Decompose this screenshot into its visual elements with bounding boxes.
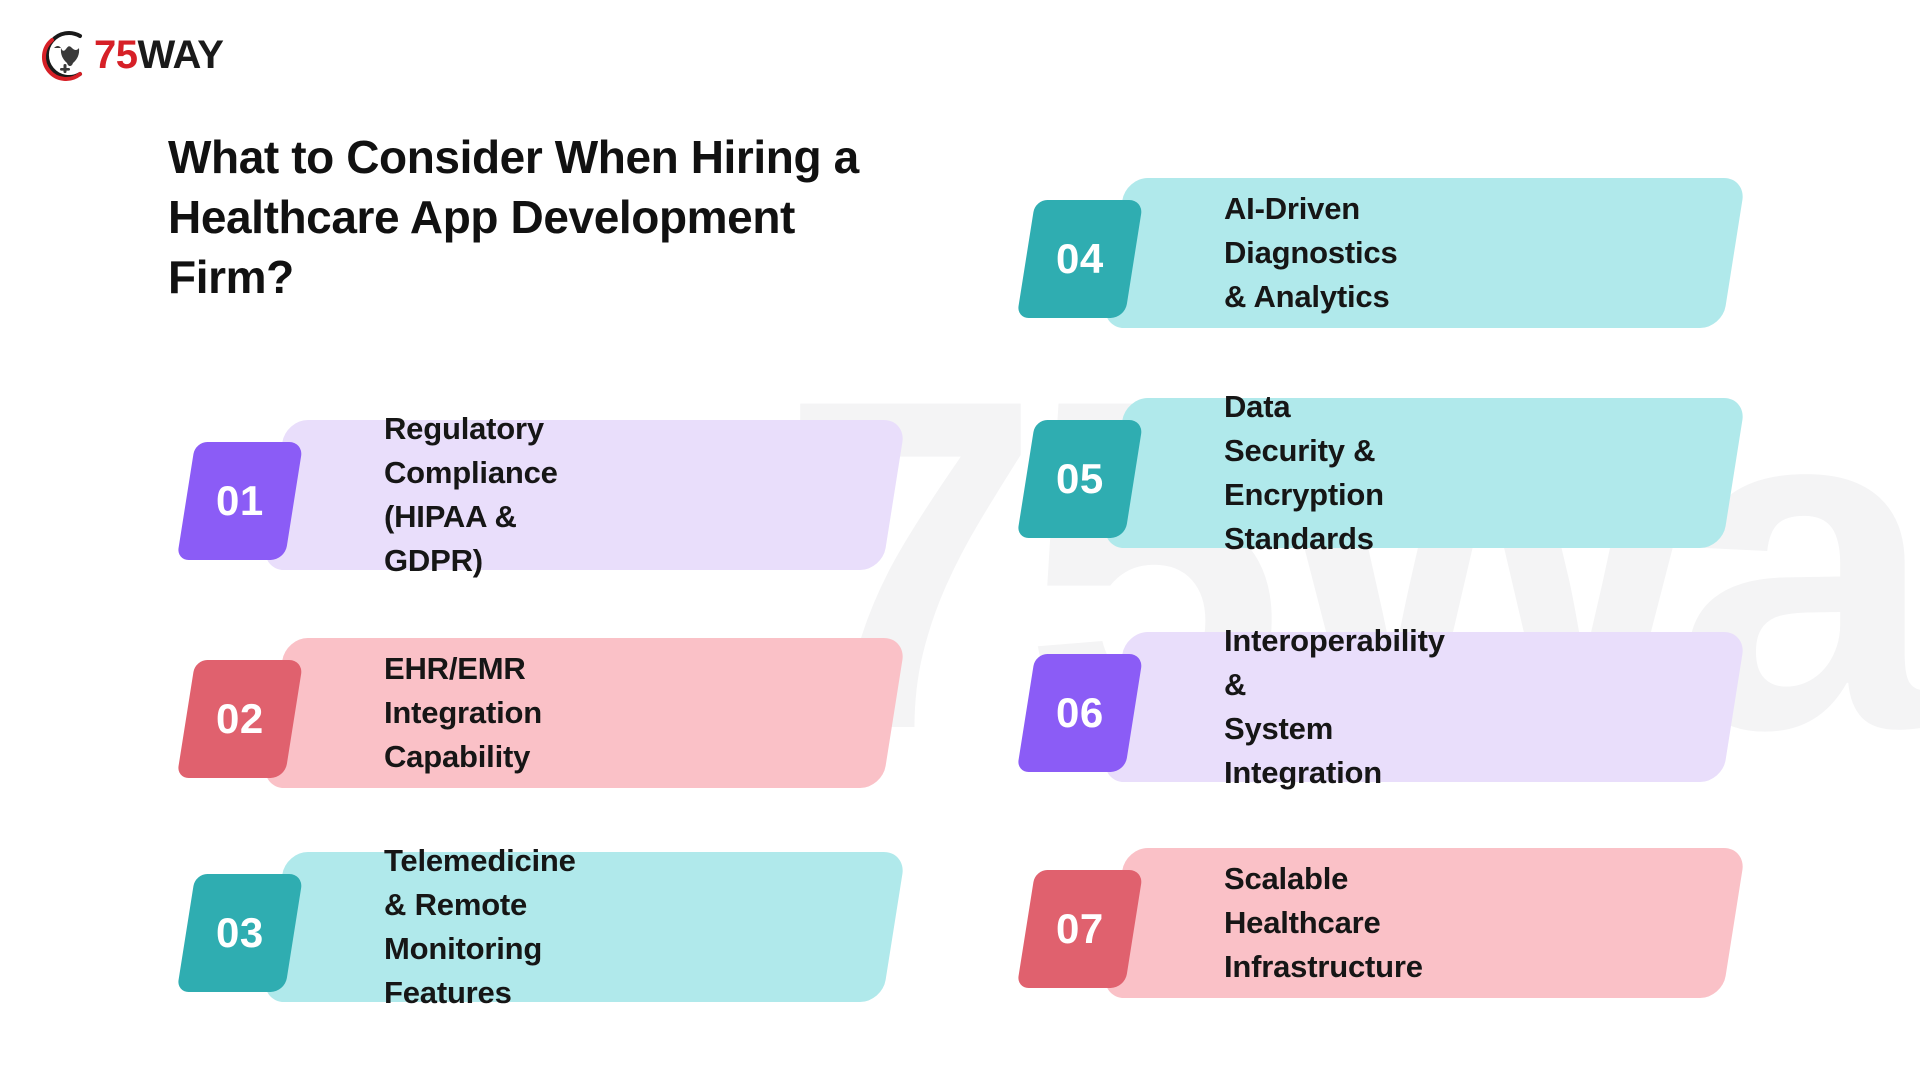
card-body-panel xyxy=(1102,398,1746,548)
card-number-label: 04 xyxy=(1056,238,1104,280)
card-number-badge: 03 xyxy=(177,874,304,992)
75way-circular-bull-logo-icon xyxy=(36,26,94,84)
card-body-panel xyxy=(262,420,906,570)
card-body-panel xyxy=(1102,178,1746,328)
card-body-panel xyxy=(262,638,906,788)
card-number-label: 07 xyxy=(1056,908,1104,950)
card-number-badge: 06 xyxy=(1017,654,1144,772)
card-body-panel xyxy=(1102,632,1746,782)
logo-text-way: WAY xyxy=(138,33,224,78)
card-number-label: 03 xyxy=(216,912,264,954)
brand-logo[interactable]: 75WAY xyxy=(36,26,223,84)
card-number-badge: 04 xyxy=(1017,200,1144,318)
card-number-label: 05 xyxy=(1056,458,1104,500)
card-number-badge: 05 xyxy=(1017,420,1144,538)
card-body-panel xyxy=(262,852,906,1002)
card-number-label: 01 xyxy=(216,480,264,522)
card-number-badge: 07 xyxy=(1017,870,1144,988)
card-number-badge: 01 xyxy=(177,442,304,560)
card-number-label: 02 xyxy=(216,698,264,740)
card-number-badge: 02 xyxy=(177,660,304,778)
card-body-panel xyxy=(1102,848,1746,998)
card-number-label: 06 xyxy=(1056,692,1104,734)
logo-text-75: 75 xyxy=(94,33,138,78)
logo-wordmark: 75WAY xyxy=(94,33,223,78)
page-title: What to Consider When Hiring a Healthcar… xyxy=(168,128,868,307)
